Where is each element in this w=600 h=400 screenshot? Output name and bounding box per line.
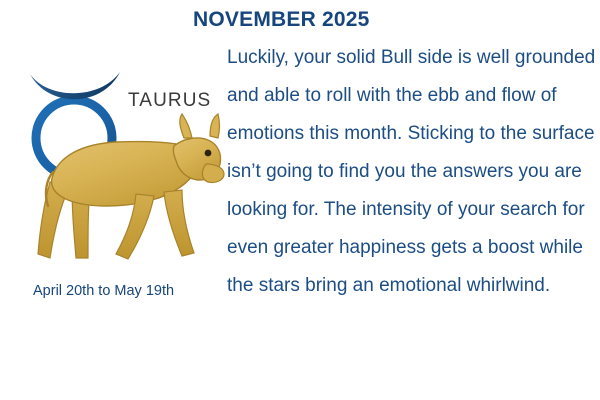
month-title: NOVEMBER 2025 bbox=[193, 8, 370, 32]
horoscope-body-text: Luckily, your solid Bull side is well gr… bbox=[227, 39, 597, 305]
horoscope-card: TAURUS bbox=[0, 0, 600, 400]
horoscope-text-panel: NOVEMBER 2025 Luckily, your solid Bull s… bbox=[193, 0, 600, 400]
